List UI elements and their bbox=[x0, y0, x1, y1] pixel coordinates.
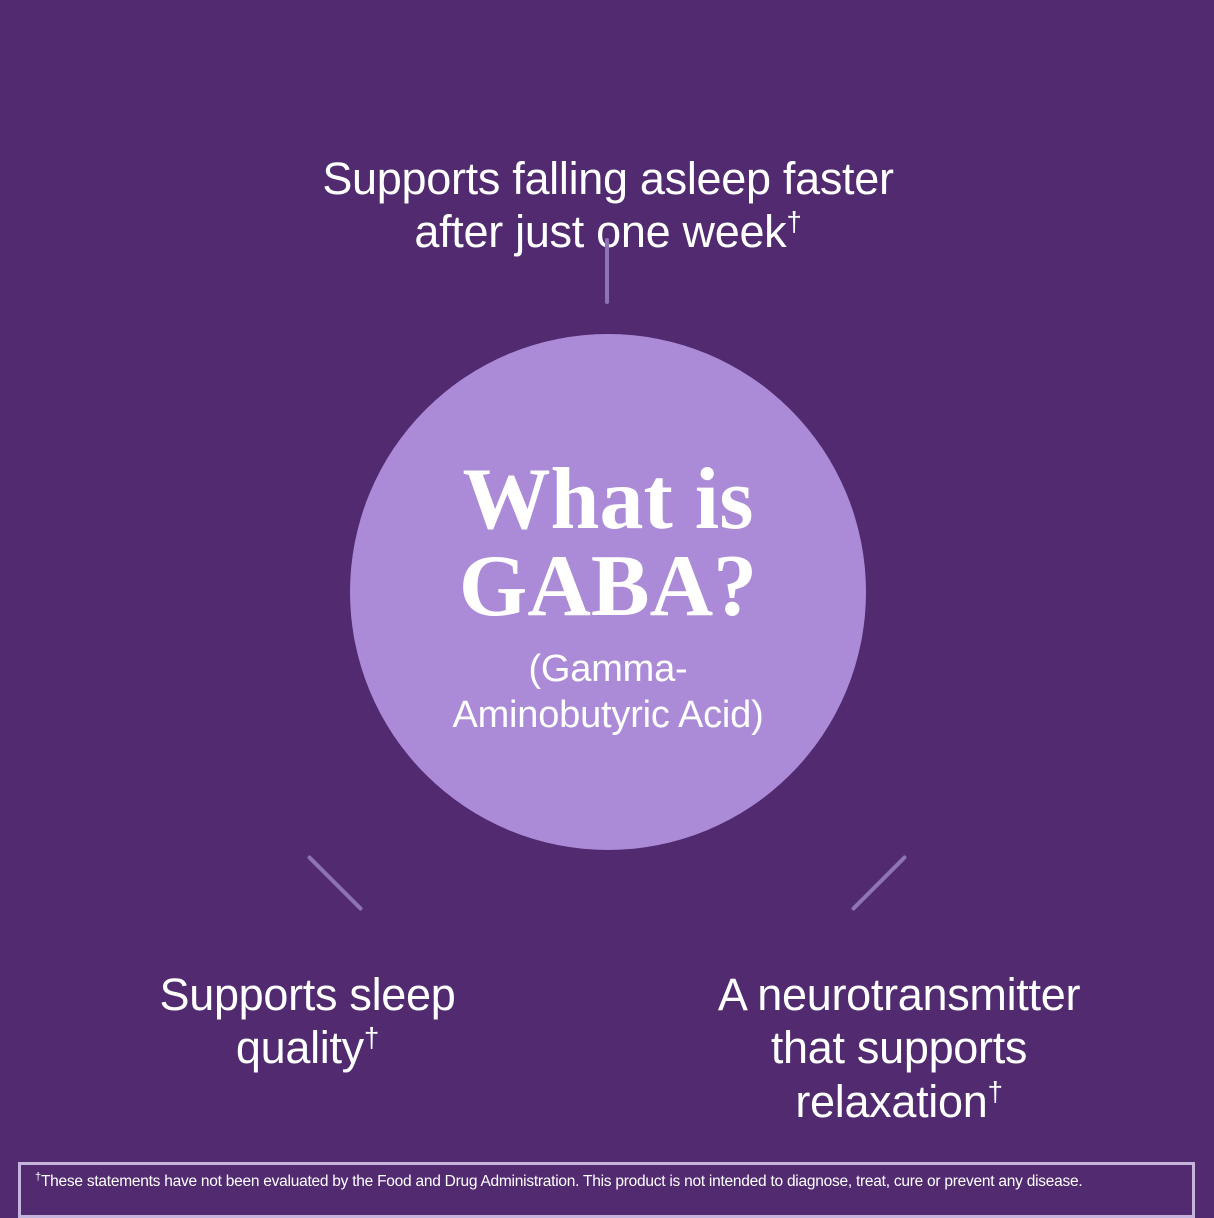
dagger-symbol-bottom-left: † bbox=[364, 1022, 379, 1053]
callout-bottom-right: A neurotransmitter that supports relaxat… bbox=[638, 914, 1160, 1128]
footer-disclaimer-body: These statements have not been evaluated… bbox=[41, 1173, 1082, 1190]
dagger-symbol-top: † bbox=[786, 206, 801, 237]
connector-line-top bbox=[605, 238, 609, 304]
callout-bottom-left-text: Supports sleep quality bbox=[160, 969, 456, 1074]
connector-line-bottom-left bbox=[307, 855, 364, 912]
footer-disclaimer-text: †These statements have not been evaluate… bbox=[35, 1172, 1082, 1191]
gaba-infographic: Supports falling asleep faster after jus… bbox=[0, 0, 1214, 1214]
center-circle: What is GABA? (Gamma- Aminobutyric Acid) bbox=[350, 334, 866, 850]
dagger-symbol-bottom-right: † bbox=[987, 1076, 1002, 1107]
connector-line-bottom-right bbox=[851, 855, 908, 912]
callout-bottom-right-text: A neurotransmitter that supports relaxat… bbox=[718, 969, 1080, 1127]
callout-bottom-left: Supports sleep quality† bbox=[55, 914, 560, 1075]
circle-title: What is GABA? bbox=[459, 446, 757, 630]
callout-top: Supports falling asleep faster after jus… bbox=[207, 98, 1009, 259]
circle-subtitle: (Gamma- Aminobutyric Acid) bbox=[452, 646, 763, 739]
footer-disclaimer-box: †These statements have not been evaluate… bbox=[18, 1162, 1195, 1218]
